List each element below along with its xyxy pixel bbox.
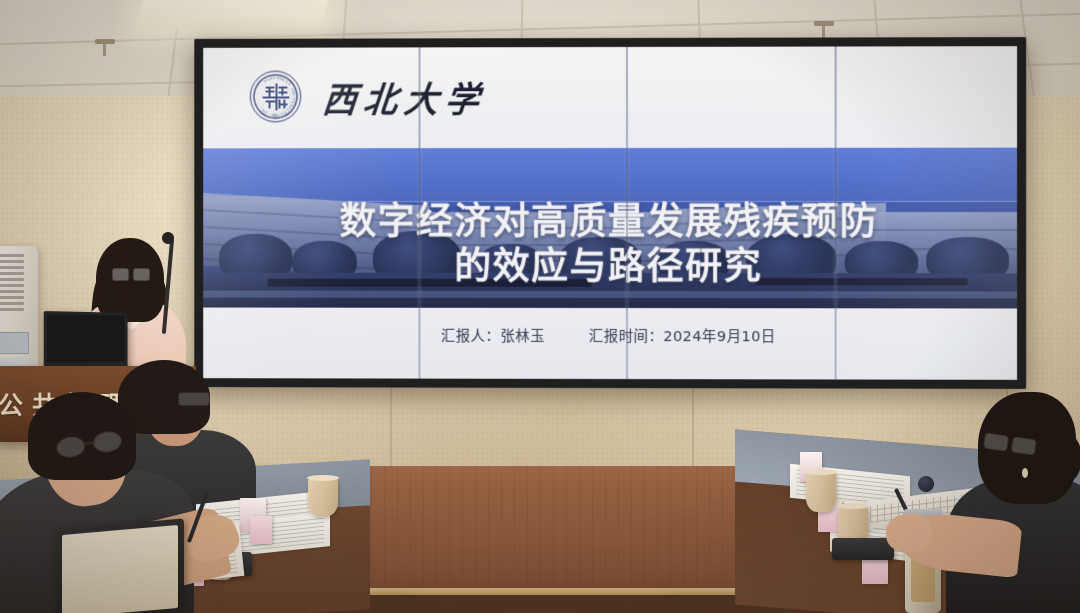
video-wall[interactable]: NORTHWEST UNIVERSITY XI'AN [194,37,1026,389]
slide-branding: NORTHWEST UNIVERSITY XI'AN [250,70,486,122]
slide-meta-row: 汇报人：张林玉 汇报时间：2024年9月10日 [203,324,1017,346]
screen-display[interactable]: NORTHWEST UNIVERSITY XI'AN [203,46,1017,380]
attendee-hair-bun [1038,430,1080,486]
sprinkler-icon [822,24,825,38]
photo-foreground-strip [755,278,968,285]
tablet-device[interactable] [56,518,184,613]
video-wall-seam [418,47,420,378]
ac-vent-icon [0,254,24,314]
university-name: 西北大学 [321,71,489,123]
slide-photo-band: 数字经济对高质量发展残疾预防 的效应与路径研究 [203,148,1017,308]
university-seal-icon: NORTHWEST UNIVERSITY XI'AN [250,71,302,123]
glasses-icon [178,392,210,406]
conference-room-scene: NORTHWEST UNIVERSITY XI'AN [0,0,1080,613]
video-wall-seam [203,195,1017,197]
date-label: 汇报时间：2024年9月10日 [589,325,776,346]
ceiling-light-panel [135,0,330,28]
photo-foreground-strip [268,279,592,287]
name-card [250,516,272,544]
video-wall-seam [626,47,628,379]
presenter-hair [96,238,164,322]
air-conditioner-unit [0,246,38,384]
sprinkler-icon [103,42,106,56]
microphone-head-icon [918,476,934,492]
paper-cup[interactable] [308,478,338,516]
seal-emblem [262,83,289,110]
microphone-base[interactable] [832,538,894,560]
seal-year: 1902 [272,114,280,118]
slide-footer-area: 汇报人：张林玉 汇报时间：2024年9月10日 [203,307,1017,380]
laptop-screen [47,314,125,362]
microphone-head-icon [162,232,174,244]
ac-display-panel [0,332,29,354]
presenter-label: 汇报人：张林玉 [441,324,545,345]
paper-cup[interactable] [806,472,836,512]
earring-icon [1022,468,1028,478]
presentation-slide: NORTHWEST UNIVERSITY XI'AN [203,46,1017,380]
podium-laptop[interactable] [44,311,128,371]
glasses-icon [112,268,150,279]
video-wall-seam [835,47,837,380]
